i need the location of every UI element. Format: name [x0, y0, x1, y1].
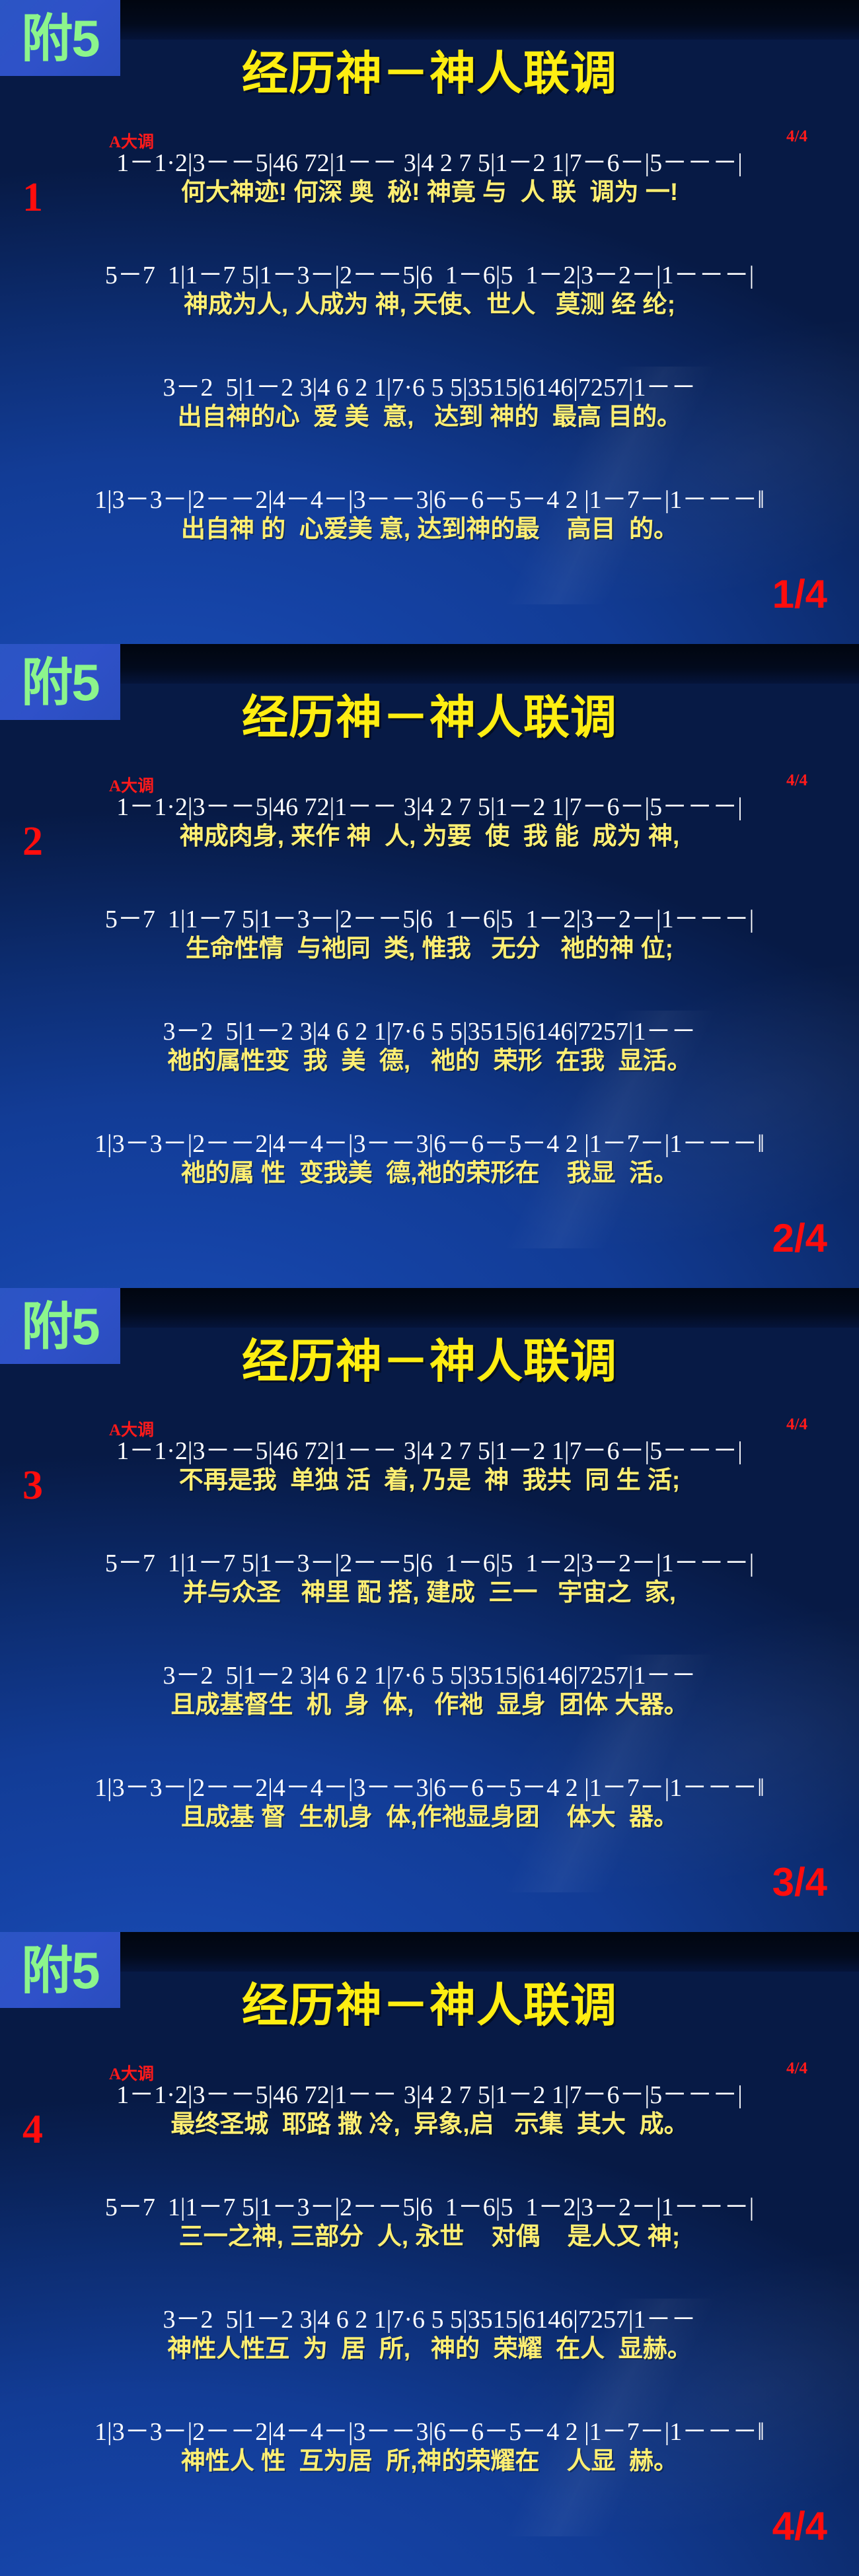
notation-line: 1|3－3－|2－－2|4－4－|3－－3|6－6－5－4 2 |1－7－|1－… [0, 487, 859, 513]
time-signature: 4/4 [786, 771, 807, 790]
notation-line: 1|3－3－|2－－2|4－4－|3－－3|6－6－5－4 2 |1－7－|1－… [0, 1131, 859, 1157]
lyrics-line: 神成为人, 人成为 神, 天使、世人 莫测 经 纶; [0, 291, 859, 319]
appendix-badge-label: 附5 [21, 657, 98, 708]
staff-block-1: 1－1·2|3－－5|46 72|1－－ 3|4 2 7 5|1－2 1|7－6… [0, 2083, 859, 2139]
key-signature: A大调 [109, 773, 154, 797]
notation-line: 1－1·2|3－－5|46 72|1－－ 3|4 2 7 5|1－2 1|7－6… [0, 2083, 859, 2108]
notation-line: 1|3－3－|2－－2|4－4－|3－－3|6－6－5－4 2 |1－7－|1－… [0, 1775, 859, 1801]
lyrics-line: 并与众圣 神里 配 搭, 建成 三一 宇宙之 家, [0, 1579, 859, 1607]
page-counter: 2/4 [772, 1219, 827, 1258]
verse-number: 1 [22, 177, 43, 218]
key-signature: A大调 [109, 1417, 154, 1441]
lyrics-line: 生命性情 与祂同 类, 惟我 无分 祂的神 位; [0, 935, 859, 963]
page-counter: 4/4 [772, 2507, 827, 2546]
appendix-badge: 附5 [0, 644, 120, 720]
staff-block-2: 5－7 1|1－7 5|1－3－|2－－5|6 1－6|5 1－2|3－2－|1… [0, 907, 859, 963]
time-signature: 4/4 [786, 2059, 807, 2078]
staff-block-1: 1－1·2|3－－5|46 72|1－－ 3|4 2 7 5|1－2 1|7－6… [0, 151, 859, 207]
notation-line: 3－2 5|1－2 3|4 6 2 1|7·6 5 5|3515|6146|72… [0, 375, 859, 400]
notation-line: 1|3－3－|2－－2|4－4－|3－－3|6－6－5－4 2 |1－7－|1－… [0, 2419, 859, 2445]
staff-block-3: 3－2 5|1－2 3|4 6 2 1|7·6 5 5|3515|6146|72… [0, 1663, 859, 1719]
key-signature: A大调 [109, 2061, 154, 2085]
notation-line: 5－7 1|1－7 5|1－3－|2－－5|6 1－6|5 1－2|3－2－|1… [0, 907, 859, 932]
staff-block-4: 1|3－3－|2－－2|4－4－|3－－3|6－6－5－4 2 |1－7－|1－… [0, 1775, 859, 1832]
time-signature: 4/4 [786, 1415, 807, 1434]
song-slide: 附5 经历神－神人联调 A大调 4/4 1 1－1·2|3－－5|46 72|1… [0, 0, 859, 644]
notation-line: 3－2 5|1－2 3|4 6 2 1|7·6 5 5|3515|6146|72… [0, 2307, 859, 2332]
lyrics-line: 且成基督生 机 身 体, 作祂 显身 团体 大器。 [0, 1691, 859, 1719]
verse-number: 4 [22, 2109, 43, 2150]
top-band [0, 0, 859, 40]
page-title: 经历神－神人联调 [0, 680, 859, 747]
lyrics-line: 三一之神, 三部分 人, 永世 对偶 是人又 神; [0, 2223, 859, 2251]
page-title: 经历神－神人联调 [0, 36, 859, 103]
appendix-badge: 附5 [0, 0, 120, 76]
appendix-badge: 附5 [0, 1288, 120, 1364]
notation-line: 5－7 1|1－7 5|1－3－|2－－5|6 1－6|5 1－2|3－2－|1… [0, 263, 859, 288]
staff-block-3: 3－2 5|1－2 3|4 6 2 1|7·6 5 5|3515|6146|72… [0, 2307, 859, 2363]
notation-line: 3－2 5|1－2 3|4 6 2 1|7·6 5 5|3515|6146|72… [0, 1019, 859, 1044]
page-title: 经历神－神人联调 [0, 1968, 859, 2035]
page-title: 经历神－神人联调 [0, 1324, 859, 1391]
staff-block-3: 3－2 5|1－2 3|4 6 2 1|7·6 5 5|3515|6146|72… [0, 375, 859, 431]
song-slide: 附5 经历神－神人联调 A大调 4/4 2 1－1·2|3－－5|46 72|1… [0, 644, 859, 1288]
time-signature: 4/4 [786, 127, 807, 146]
appendix-badge-label: 附5 [21, 13, 98, 64]
staff-block-4: 1|3－3－|2－－2|4－4－|3－－3|6－6－5－4 2 |1－7－|1－… [0, 1131, 859, 1188]
song-slide: 附5 经历神－神人联调 A大调 4/4 4 1－1·2|3－－5|46 72|1… [0, 1932, 859, 2576]
lyrics-line: 祂的属性变 我 美 德, 祂的 荣形 在我 显活。 [0, 1047, 859, 1075]
lyrics-line: 神性人性互 为 居 所, 神的 荣耀 在人 显赫。 [0, 2335, 859, 2363]
lyrics-line: 不再是我 单独 活 着, 乃是 神 我共 同 生 活; [0, 1466, 859, 1495]
staff-block-3: 3－2 5|1－2 3|4 6 2 1|7·6 5 5|3515|6146|72… [0, 1019, 859, 1075]
verse-number: 3 [22, 1465, 43, 1506]
song-slide: 附5 经历神－神人联调 A大调 4/4 3 1－1·2|3－－5|46 72|1… [0, 1288, 859, 1932]
top-band [0, 1288, 859, 1328]
staff-block-1: 1－1·2|3－－5|46 72|1－－ 3|4 2 7 5|1－2 1|7－6… [0, 795, 859, 851]
staff-block-4: 1|3－3－|2－－2|4－4－|3－－3|6－6－5－4 2 |1－7－|1－… [0, 2419, 859, 2476]
notation-line: 5－7 1|1－7 5|1－3－|2－－5|6 1－6|5 1－2|3－2－|1… [0, 2195, 859, 2220]
lyrics-line: 出自神 的 心爱美 意, 达到神的最 高目 的。 [0, 515, 859, 544]
appendix-badge: 附5 [0, 1932, 120, 2008]
lyrics-line: 神成肉身, 来作 神 人, 为要 使 我 能 成为 神, [0, 822, 859, 851]
notation-line: 3－2 5|1－2 3|4 6 2 1|7·6 5 5|3515|6146|72… [0, 1663, 859, 1688]
lyrics-line: 何大神迹! 何深 奥 秘! 神竟 与 人 联 调为 一! [0, 178, 859, 207]
top-band [0, 1932, 859, 1972]
notation-line: 5－7 1|1－7 5|1－3－|2－－5|6 1－6|5 1－2|3－2－|1… [0, 1551, 859, 1576]
staff-block-4: 1|3－3－|2－－2|4－4－|3－－3|6－6－5－4 2 |1－7－|1－… [0, 487, 859, 544]
notation-line: 1－1·2|3－－5|46 72|1－－ 3|4 2 7 5|1－2 1|7－6… [0, 151, 859, 176]
lyrics-line: 且成基 督 生机身 体,作祂显身团 体大 器。 [0, 1803, 859, 1832]
appendix-badge-label: 附5 [21, 1301, 98, 1352]
lyrics-line: 神性人 性 互为居 所,神的荣耀在 人显 赫。 [0, 2447, 859, 2476]
page-counter: 3/4 [772, 1863, 827, 1902]
lyrics-line: 祂的属 性 变我美 德,祂的荣形在 我显 活。 [0, 1159, 859, 1188]
lyrics-line: 出自神的心 爱 美 意, 达到 神的 最高 目的。 [0, 403, 859, 431]
page-counter: 1/4 [772, 575, 827, 614]
staff-block-2: 5－7 1|1－7 5|1－3－|2－－5|6 1－6|5 1－2|3－2－|1… [0, 1551, 859, 1607]
appendix-badge-label: 附5 [21, 1945, 98, 1996]
staff-block-2: 5－7 1|1－7 5|1－3－|2－－5|6 1－6|5 1－2|3－2－|1… [0, 263, 859, 319]
notation-line: 1－1·2|3－－5|46 72|1－－ 3|4 2 7 5|1－2 1|7－6… [0, 1439, 859, 1464]
top-band [0, 644, 859, 684]
staff-block-1: 1－1·2|3－－5|46 72|1－－ 3|4 2 7 5|1－2 1|7－6… [0, 1439, 859, 1495]
key-signature: A大调 [109, 129, 154, 153]
lyrics-line: 最终圣城 耶路 撒 冷, 异象,启 示集 其大 成。 [0, 2110, 859, 2139]
verse-number: 2 [22, 821, 43, 862]
notation-line: 1－1·2|3－－5|46 72|1－－ 3|4 2 7 5|1－2 1|7－6… [0, 795, 859, 820]
staff-block-2: 5－7 1|1－7 5|1－3－|2－－5|6 1－6|5 1－2|3－2－|1… [0, 2195, 859, 2251]
